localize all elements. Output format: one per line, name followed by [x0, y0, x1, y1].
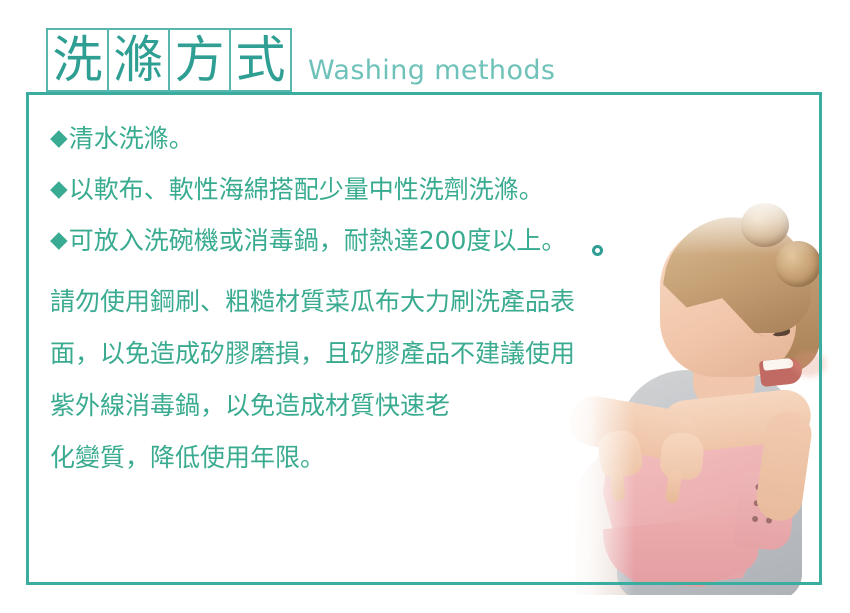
diamond-bullet-icon: ◆	[50, 177, 68, 201]
title-char-box-4: 式	[229, 28, 292, 92]
teeth-shape	[763, 358, 794, 371]
diamond-bullet-icon: ◆	[50, 228, 68, 252]
washing-methods-card: 洗 滌 方 式 Washing methods ◆ 清水洗滌。 ◆ 以軟布、軟性…	[0, 0, 850, 613]
bullet-item-2: ◆ 以軟布、軟性海綿搭配少量中性洗劑洗滌。	[50, 177, 650, 202]
bullet-item-2-text: 以軟布、軟性海綿搭配少量中性洗劑洗滌。	[69, 177, 544, 202]
page-title: 洗 滌 方 式 Washing methods	[46, 28, 555, 92]
bullet-item-1-text: 清水洗滌。	[69, 126, 194, 151]
paragraph-line-3: 紫外線消毒鍋，以免造成材質快速老	[50, 393, 650, 418]
paragraph-line-1: 請勿使用鋼刷、粗糙材質菜瓜布大力刷洗產品表	[50, 289, 650, 314]
title-english-subtitle: Washing methods	[308, 55, 555, 86]
paragraph-line-4: 化變質，降低使用年限。	[50, 445, 650, 470]
title-char-box-2: 滌	[107, 28, 170, 92]
content-body: ◆ 清水洗滌。 ◆ 以軟布、軟性海綿搭配少量中性洗劑洗滌。 ◆ 可放入洗碗機或消…	[50, 126, 650, 497]
bullet-item-3: ◆ 可放入洗碗機或消毒鍋，耐熱達200度以上。	[50, 228, 650, 253]
diamond-bullet-icon: ◆	[50, 126, 68, 150]
strap-hole	[752, 516, 759, 523]
warning-paragraph: 請勿使用鋼刷、粗糙材質菜瓜布大力刷洗產品表 面，以免造成矽膠磨損，且矽膠產品不建…	[50, 289, 650, 470]
title-char-box-3: 方	[168, 28, 231, 92]
bullet-item-1: ◆ 清水洗滌。	[50, 126, 650, 151]
cheek-shape	[792, 351, 826, 377]
paragraph-line-2: 面，以免造成矽膠磨損，且矽膠產品不建議使用	[50, 341, 650, 366]
title-char-box-1: 洗	[46, 28, 109, 92]
hand-right	[659, 431, 706, 481]
bullet-item-3-text: 可放入洗碗機或消毒鍋，耐熱達200度以上。	[69, 228, 567, 253]
teal-dot-mark	[592, 245, 603, 256]
